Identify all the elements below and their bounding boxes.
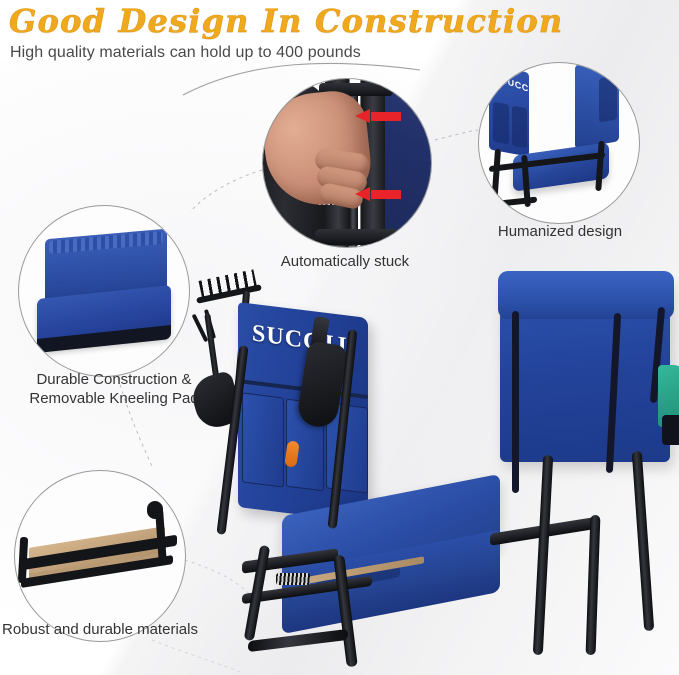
frame-foot <box>248 629 348 652</box>
callout-robust-materials <box>14 470 186 642</box>
pouch-pocket <box>242 392 284 487</box>
frame-joint <box>147 501 163 519</box>
latch-bar-bottom <box>315 229 399 245</box>
red-arrow-icon <box>355 187 401 200</box>
caption-humanized-design: Humanized design <box>468 222 652 241</box>
teal-accessory-shadow <box>662 415 679 445</box>
frame-leg <box>533 455 553 655</box>
spring-mechanism <box>276 573 310 585</box>
pouch-pocket <box>493 102 509 145</box>
callout-automatically-stuck <box>262 78 432 248</box>
red-arrow-icon <box>355 109 401 122</box>
callout-durable-construction <box>18 205 190 377</box>
callout-humanized-design: SUCCJJ <box>478 62 640 224</box>
pouch-pocket <box>512 106 527 149</box>
frame-leg <box>491 149 501 207</box>
product-infographic: Good Design In Construction High quality… <box>0 0 679 675</box>
backrest-headrest <box>498 271 674 319</box>
brand-logo-inset: SUCCJJ <box>501 74 540 98</box>
backrest-strap <box>512 311 519 493</box>
page-title: Good Design In Construction <box>9 2 563 40</box>
frame-leg <box>632 451 655 631</box>
frame-post <box>18 537 28 583</box>
frame-leg <box>586 515 601 655</box>
pouch-pocket <box>599 75 617 122</box>
main-product-image: SUCCJJ <box>190 255 679 675</box>
page-subtitle: High quality materials can hold up to 40… <box>10 44 361 62</box>
